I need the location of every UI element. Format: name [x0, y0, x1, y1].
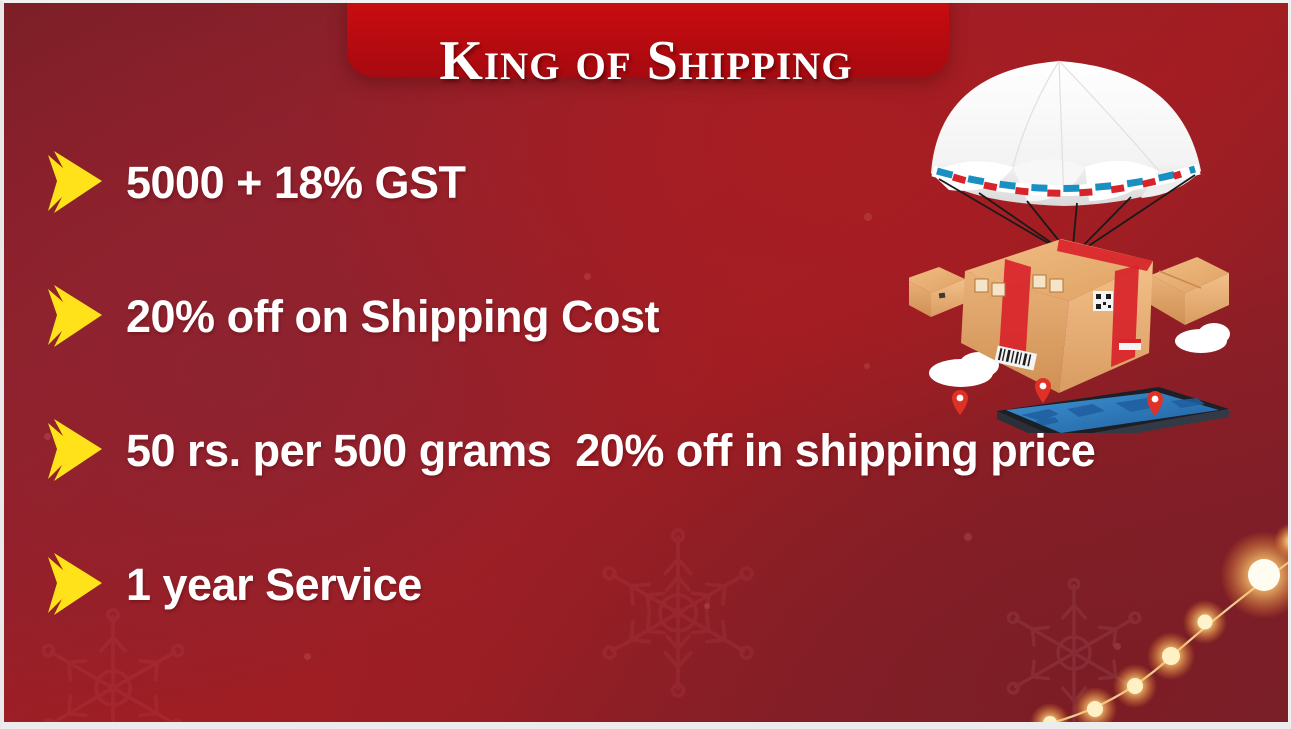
light-bulb [1183, 600, 1227, 644]
light-bulb [1113, 664, 1157, 708]
cloud-icon [1175, 323, 1230, 353]
promotional-banner: King of Shipping 5000 + 18% GST 20% off … [0, 0, 1291, 729]
offer-text: 1 year Service [126, 562, 422, 607]
small-box [1151, 257, 1229, 325]
light-bulb [1073, 687, 1117, 729]
string-lights-decoration [1024, 523, 1291, 729]
cloud-icon [929, 352, 999, 387]
decor-dot [304, 653, 311, 660]
double-chevron-right-icon [44, 147, 116, 217]
snowflake-icon [28, 603, 198, 729]
parachute-canopy [931, 61, 1201, 206]
parachute-delivery-illustration [909, 43, 1289, 433]
phone-map [952, 378, 1229, 433]
offer-text: 20% off on Shipping Cost [126, 294, 659, 339]
small-box [909, 267, 965, 317]
offer-text: 5000 + 18% GST [126, 160, 465, 205]
offer-text: 50 rs. per 500 grams 20% off in shipping… [126, 428, 1095, 473]
light-bulb [1147, 632, 1195, 680]
double-chevron-right-icon [44, 281, 116, 351]
double-chevron-right-icon [44, 415, 116, 485]
light-bulb [1030, 703, 1070, 729]
double-chevron-right-icon [44, 549, 116, 619]
map-pin-icon [1035, 378, 1051, 403]
map-pin-icon [952, 390, 968, 415]
